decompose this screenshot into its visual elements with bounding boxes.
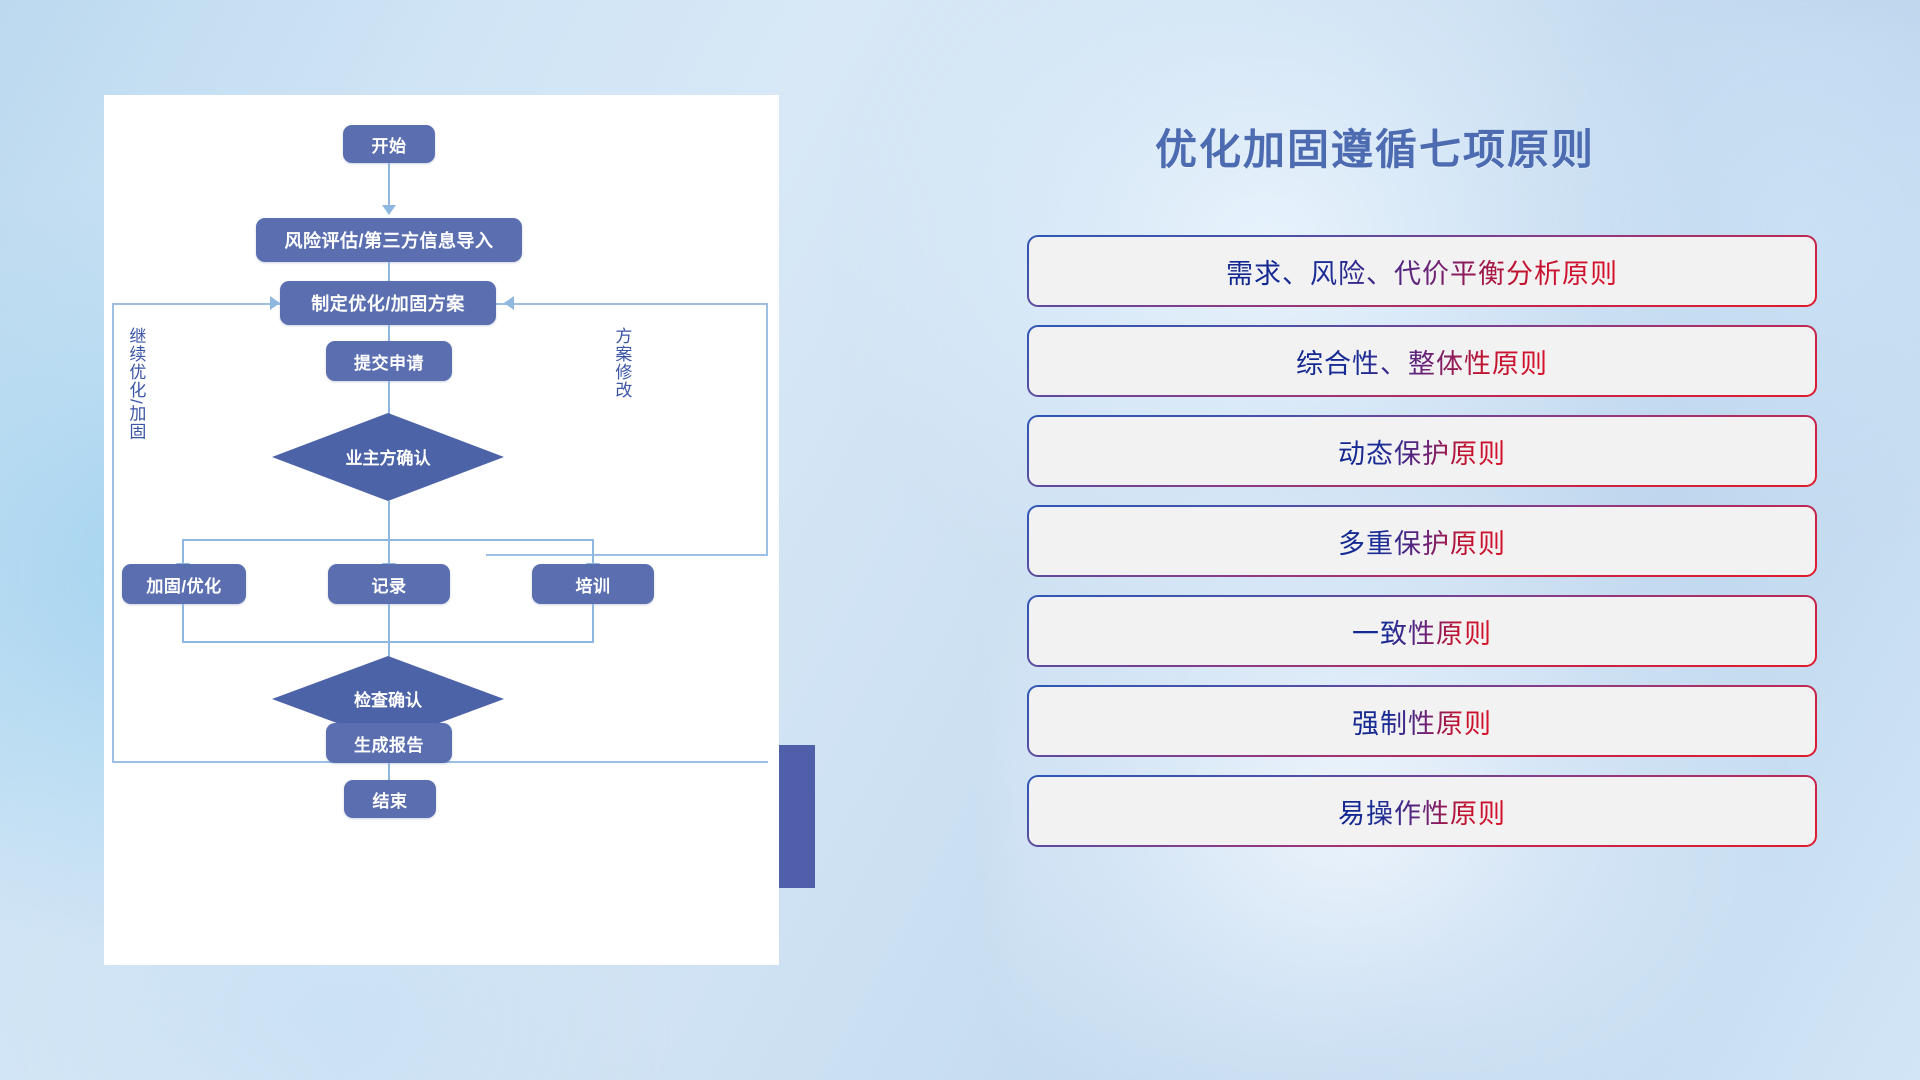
node-start-label: 开始	[372, 132, 407, 157]
side-label-plan-revision: 方案修改	[612, 327, 630, 399]
edge-fanin-mid	[388, 604, 390, 642]
node-make-plan[interactable]: 制定优化/加固方案	[280, 281, 496, 325]
principle-label-6: 强制性原则	[1352, 702, 1492, 741]
principle-label-3: 动态保护原则	[1338, 432, 1506, 471]
node-record[interactable]: 记录	[328, 564, 450, 604]
node-make-plan-label: 制定优化/加固方案	[311, 290, 465, 316]
decision-owner-confirm-label: 业主方确认	[346, 444, 431, 469]
principle-label-1: 需求、风险、代价平衡分析原则	[1226, 252, 1618, 291]
node-start[interactable]: 开始	[343, 125, 435, 163]
node-submit-application-label: 提交申请	[354, 349, 424, 374]
edge-start-to-assess	[388, 163, 390, 208]
principle-card-inner: 综合性、整体性原则	[1029, 327, 1815, 395]
node-training-label: 培训	[576, 572, 611, 597]
principle-card-4[interactable]: 多重保护原则	[1027, 505, 1817, 577]
principle-label-5: 一致性原则	[1352, 612, 1492, 651]
flowchart-diagram: 开始 风险评估/第三方信息导入 制定优化/加固方案 提交申请 业主方确认	[104, 95, 779, 965]
principle-card-inner: 需求、风险、代价平衡分析原则	[1029, 237, 1815, 305]
node-generate-report-label: 生成报告	[354, 731, 424, 756]
node-risk-assessment[interactable]: 风险评估/第三方信息导入	[256, 218, 522, 262]
edge-owner-down	[388, 501, 390, 539]
node-end-label: 结束	[373, 787, 408, 812]
principle-card-2[interactable]: 综合性、整体性原则	[1027, 325, 1817, 397]
flowchart-card: 开始 风险评估/第三方信息导入 制定优化/加固方案 提交申请 业主方确认	[104, 95, 779, 965]
node-training[interactable]: 培训	[532, 564, 654, 604]
arrow-right-icon	[270, 296, 280, 310]
principle-card-inner: 动态保护原则	[1029, 417, 1815, 485]
principle-card-inner: 强制性原则	[1029, 687, 1815, 755]
principles-list: 需求、风险、代价平衡分析原则 综合性、整体性原则 动态保护原则 多重保护原则 一…	[1027, 235, 1817, 865]
principle-card-5[interactable]: 一致性原则	[1027, 595, 1817, 667]
principle-label-7: 易操作性原则	[1338, 792, 1506, 831]
principle-card-inner: 多重保护原则	[1029, 507, 1815, 575]
node-record-label: 记录	[372, 572, 407, 597]
page-title: 优化加固遵循七项原则	[1155, 116, 1595, 177]
node-reinforce-optimize-label: 加固/优化	[146, 572, 221, 597]
node-reinforce-optimize[interactable]: 加固/优化	[122, 564, 246, 604]
edge-fanin-left	[182, 604, 184, 642]
principle-card-inner: 易操作性原则	[1029, 777, 1815, 845]
principle-card-inner: 一致性原则	[1029, 597, 1815, 665]
principle-card-7[interactable]: 易操作性原则	[1027, 775, 1817, 847]
principle-card-3[interactable]: 动态保护原则	[1027, 415, 1817, 487]
decision-check-confirm-label: 检查确认	[354, 686, 422, 711]
arrow-down-icon	[382, 205, 396, 215]
principle-card-6[interactable]: 强制性原则	[1027, 685, 1817, 757]
node-submit-application[interactable]: 提交申请	[326, 341, 452, 381]
node-end[interactable]: 结束	[344, 780, 436, 818]
arrow-left-icon	[504, 296, 514, 310]
side-label-continue-optimize: 继续优化/加固	[126, 327, 144, 441]
node-generate-report[interactable]: 生成报告	[326, 723, 452, 763]
principle-card-1[interactable]: 需求、风险、代价平衡分析原则	[1027, 235, 1817, 307]
principle-label-2: 综合性、整体性原则	[1296, 342, 1548, 381]
node-risk-assessment-label: 风险评估/第三方信息导入	[285, 227, 494, 253]
principle-label-4: 多重保护原则	[1338, 522, 1506, 561]
decision-owner-confirm[interactable]: 业主方确认	[272, 413, 504, 501]
edge-fanin-right	[592, 604, 594, 642]
